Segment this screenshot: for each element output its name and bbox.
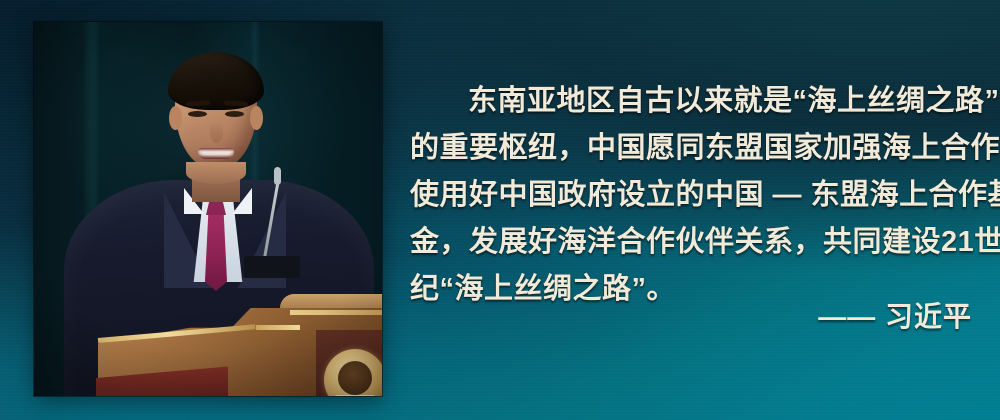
quote-line-2: 的重要枢纽，中国愿同东盟国家加强海上合作，: [410, 125, 972, 172]
chin: [186, 162, 246, 184]
mouth: [198, 148, 234, 159]
eye-right: [225, 111, 244, 117]
ear-right: [250, 106, 263, 130]
speaker-photo: [34, 22, 382, 396]
nose: [210, 121, 223, 143]
ear-left: [169, 106, 182, 130]
quote-line-1: 东南亚地区自古以来就是“海上丝绸之路”: [410, 78, 972, 125]
quote-line-3: 使用好中国政府设立的中国 — 东盟海上合作基: [410, 172, 972, 219]
podium-equipment-box: [244, 256, 300, 278]
quote-line-4: 金，发展好海洋合作伙伴关系，共同建设21世: [410, 219, 972, 266]
quote-attribution: —— 习近平: [410, 298, 972, 336]
podium-gold-trim-mid: [256, 325, 300, 330]
eye-left: [188, 111, 207, 117]
microphone-head: [274, 167, 281, 185]
podium-gold-trim-top: [290, 310, 382, 315]
quote-card: 东南亚地区自古以来就是“海上丝绸之路” 的重要枢纽，中国愿同东盟国家加强海上合作…: [0, 0, 1000, 420]
quote-text: 东南亚地区自古以来就是“海上丝绸之路” 的重要枢纽，中国愿同东盟国家加强海上合作…: [410, 78, 972, 313]
